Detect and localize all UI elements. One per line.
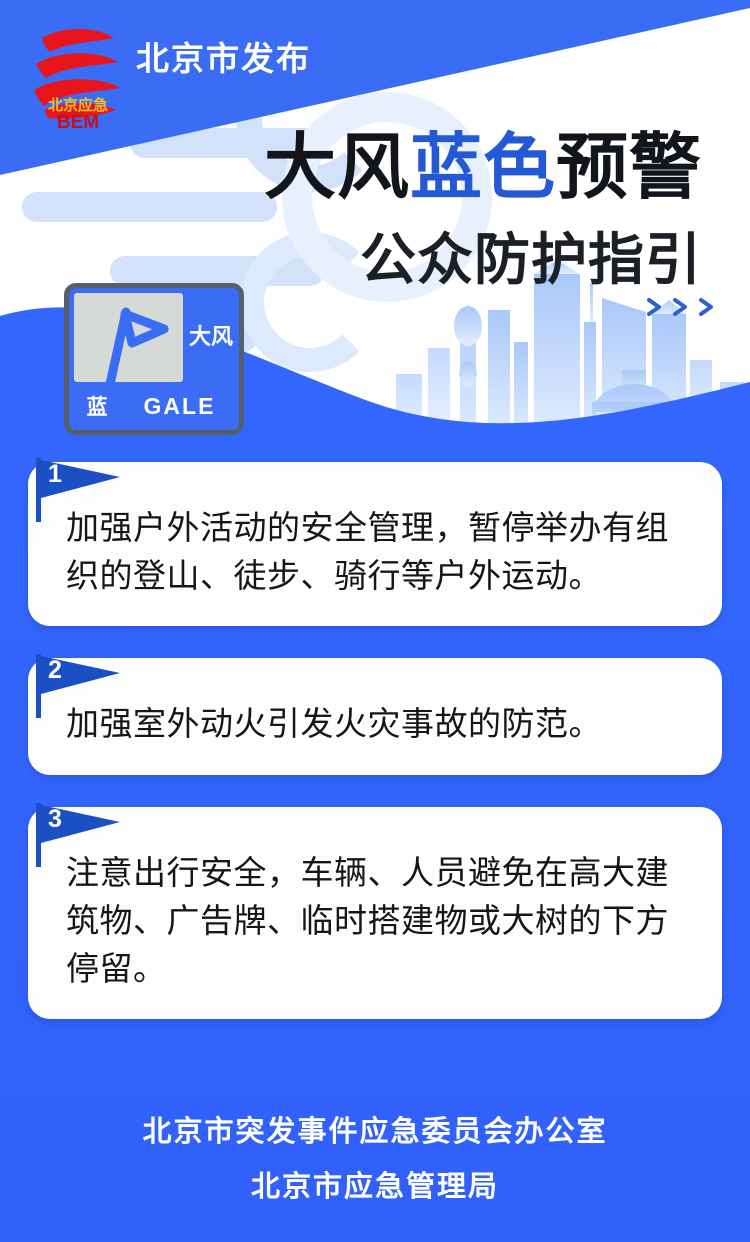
signboard-level-badge: 蓝 bbox=[74, 387, 120, 425]
advice-card: 1 加强户外活动的安全管理，暂停举办有组织的登山、徒步、骑行等户外运动。 bbox=[28, 462, 722, 626]
advice-number: 2 bbox=[48, 658, 62, 683]
advice-text: 加强室外动火引发火灾事故的防范。 bbox=[66, 700, 696, 748]
bem-logo: 北京应急 BEM bbox=[22, 18, 132, 130]
footer-line-2: 北京市应急管理局 bbox=[0, 1173, 750, 1202]
gale-warning-signboard: 大风 蓝 GALE bbox=[64, 283, 244, 435]
brand-title: 北京市发布 bbox=[136, 32, 311, 80]
signboard-bottom-row: 蓝 GALE bbox=[74, 387, 234, 425]
page-subtitle: 公众防护指引 bbox=[360, 232, 702, 288]
footer-line-1: 北京市突发事件应急委员会办公室 bbox=[0, 1118, 750, 1147]
title-part-2: 预警 bbox=[556, 128, 702, 208]
logo-text-en: BEM bbox=[57, 112, 99, 130]
advice-number: 3 bbox=[48, 807, 62, 832]
chevron-right-icon bbox=[645, 296, 723, 324]
advice-number: 1 bbox=[48, 462, 62, 487]
title-highlight: 蓝色 bbox=[410, 128, 556, 208]
page-title: 大风蓝色预警 bbox=[264, 132, 702, 204]
advice-card-list: 1 加强户外活动的安全管理，暂停举办有组织的登山、徒步、骑行等户外运动。 2 加… bbox=[28, 462, 722, 1051]
advice-text: 加强户外活动的安全管理，暂停举办有组织的登山、徒步、骑行等户外运动。 bbox=[66, 504, 696, 600]
number-flag-badge: 1 bbox=[34, 454, 130, 524]
footer: 北京市突发事件应急委员会办公室 北京市应急管理局 bbox=[0, 1118, 750, 1202]
advice-card: 3 注意出行安全，车辆、人员避免在高大建筑物、广告牌、临时搭建物或大树的下方停留… bbox=[28, 807, 722, 1020]
title-part-1: 大风 bbox=[264, 128, 410, 208]
signboard-label-cn-char1: 大风 bbox=[189, 326, 233, 349]
advice-text: 注意出行安全，车辆、人员避免在高大建筑物、广告牌、临时搭建物或大树的下方停留。 bbox=[66, 849, 696, 994]
number-flag-badge: 3 bbox=[34, 799, 130, 869]
wind-flag-icon bbox=[74, 293, 183, 382]
number-flag-badge: 2 bbox=[34, 650, 130, 720]
signboard-label-en: GALE bbox=[125, 387, 234, 425]
signboard-top-row: 大风 bbox=[74, 293, 234, 382]
poster-root: 北京应急 BEM 北京市发布 大风蓝色预警 公众防护指引 bbox=[0, 0, 750, 1242]
advice-card: 2 加强室外动火引发火灾事故的防范。 bbox=[28, 658, 722, 774]
signboard-label-cn: 大风 bbox=[188, 293, 234, 382]
